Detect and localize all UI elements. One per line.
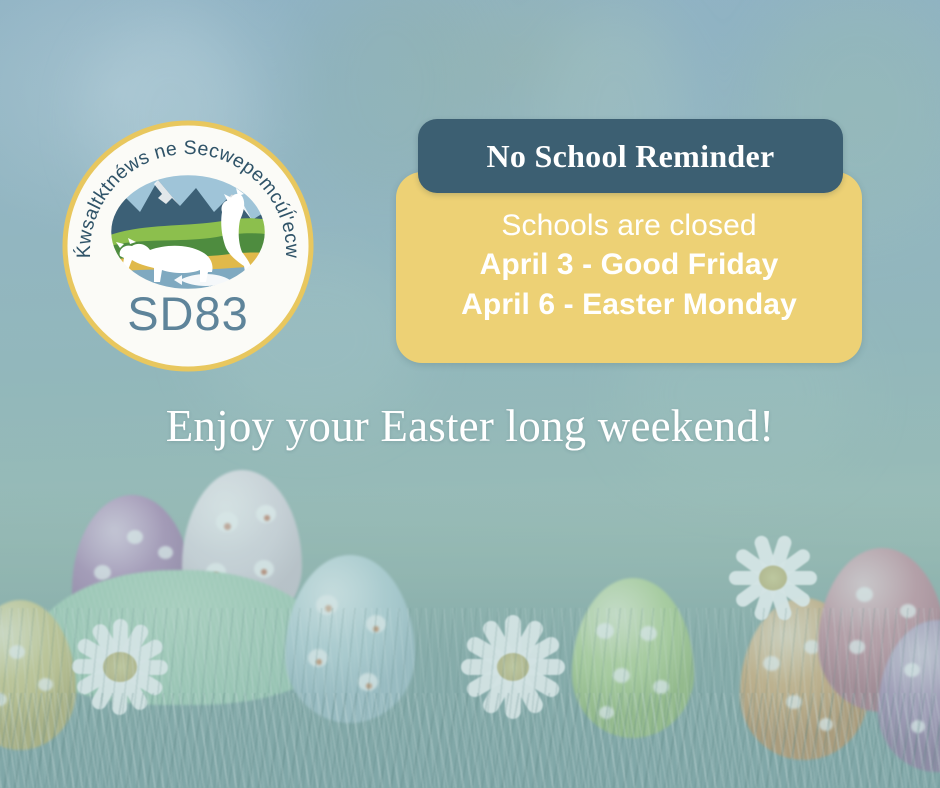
schools-closed-text: Schools are closed April 3 - Good Friday… (396, 206, 862, 325)
logo-district-code: SD83 (127, 287, 249, 340)
card-line-2: April 6 - Easter Monday (396, 285, 862, 325)
sd83-logo: Ḱwsaltktnéws ne Secwepemcúĺ'ecw (62, 120, 314, 372)
easter-tagline: Enjoy your Easter long weekend! (0, 400, 940, 452)
schools-closed-card: Schools are closed April 3 - Good Friday… (396, 172, 862, 363)
card-line-0: Schools are closed (396, 206, 862, 245)
card-line-1: April 3 - Good Friday (396, 245, 862, 285)
banner-title: No School Reminder (486, 138, 774, 175)
no-school-reminder-banner: No School Reminder (418, 119, 843, 193)
easter-no-school-poster: Ḱwsaltktnéws ne Secwepemcúĺ'ecw (0, 0, 940, 788)
